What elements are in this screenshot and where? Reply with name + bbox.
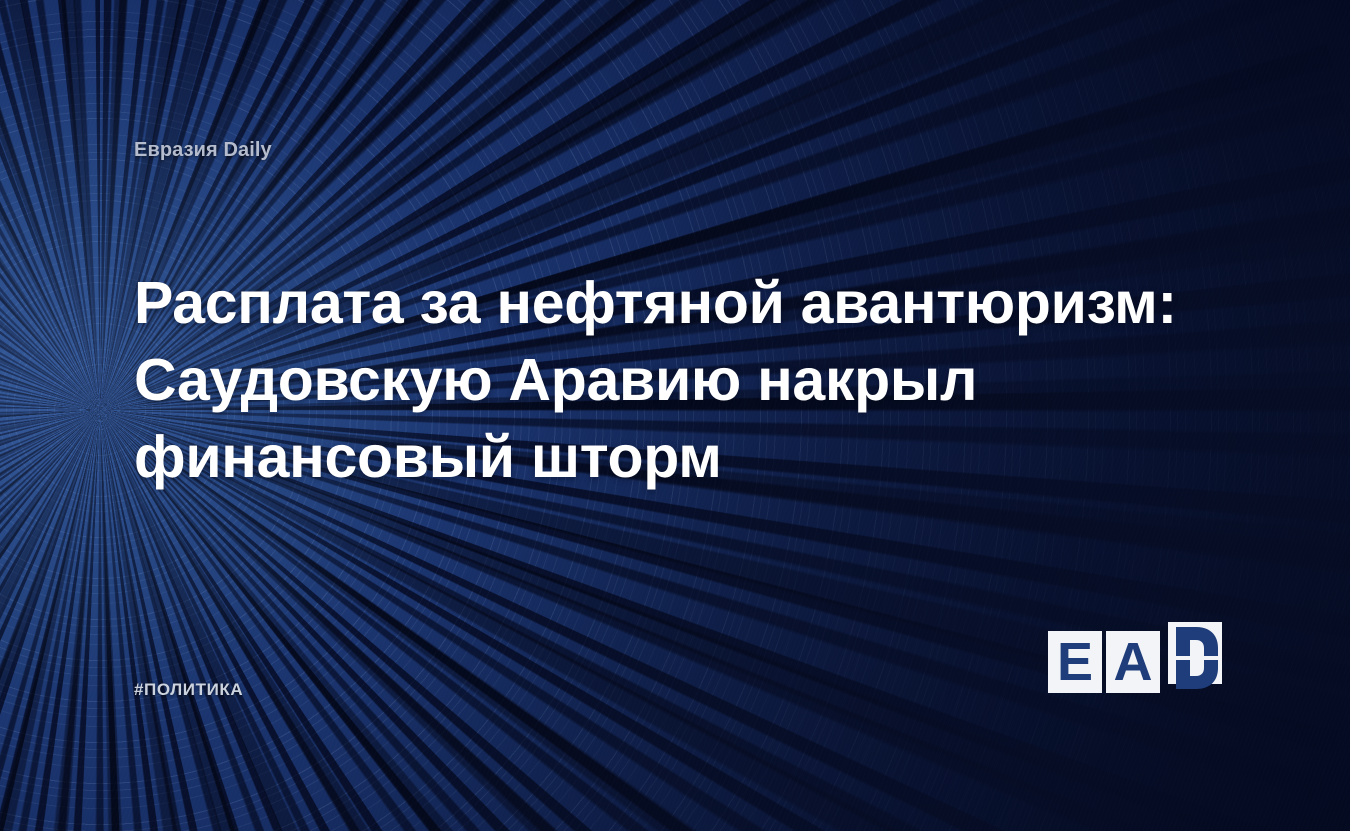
- headline-line-3: финансовый шторм: [134, 419, 1114, 496]
- card-content: Евразия Daily Расплата за нефтяной авант…: [0, 0, 1350, 831]
- logo-letter-a-icon: A: [1106, 631, 1160, 693]
- logo-letter-e-icon: E: [1048, 631, 1102, 693]
- logo-letter-d-icon: [1166, 620, 1228, 718]
- ead-logo[interactable]: E A: [1048, 622, 1224, 714]
- headline-line-1: Расплата за нефтяной авантюризм:: [134, 265, 1114, 342]
- publisher-name: Евразия Daily: [134, 139, 272, 162]
- category-hashtag[interactable]: #ПОЛИТИКА: [134, 680, 243, 700]
- headline-line-2: Саудовскую Аравию накрыл: [134, 342, 1114, 419]
- article-headline: Расплата за нефтяной авантюризм: Саудовс…: [134, 265, 1114, 496]
- article-share-card: Евразия Daily Расплата за нефтяной авант…: [0, 0, 1350, 831]
